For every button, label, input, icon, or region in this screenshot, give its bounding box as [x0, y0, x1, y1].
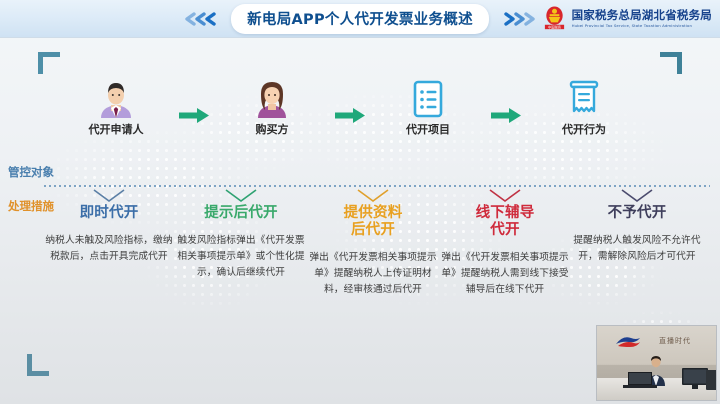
flow-node-behavior: 代开行为 — [534, 78, 634, 137]
monitor-secondary-icon — [706, 370, 717, 390]
flow-node-buyer: 购买方 — [222, 78, 322, 137]
male-avatar-icon — [96, 78, 136, 118]
measure-heading: 即时代开 — [43, 205, 175, 222]
measure-body: 触发风险指标弹出《代开发票相关事项提示单》或个性化提示，确认后继续代开 — [175, 233, 307, 280]
measure-body: 弹出《代开发票相关事项提示单》提醒纳税人需到线下接受辅导后在线下代开 — [439, 250, 571, 297]
header-title-group: 新电局APP个人代开发票业务概述 — [182, 4, 538, 34]
measure-body: 弹出《代开发票相关事项提示单》提醒纳税人上传证明材料，经审核通过后代开 — [307, 250, 439, 297]
flow-node-label: 代开项目 — [406, 121, 450, 137]
logo-org-name-en: Hubei Provincial Tax Service, State Taxa… — [572, 23, 712, 28]
flow-node-label: 代开申请人 — [89, 121, 144, 137]
presenter-video-inset[interactable]: 直播时代 — [596, 325, 717, 401]
measure-heading: 提供资料 后代开 — [307, 205, 439, 239]
slide-header: 新电局APP个人代开发票业务概述 — [0, 0, 720, 38]
flow-node-project: 代开项目 — [378, 78, 478, 137]
legend-control-object: 管控对象 — [8, 164, 54, 180]
national-emblem-icon: 中国税务 — [542, 5, 567, 32]
slide-canvas: 新电局APP个人代开发票业务概述 — [0, 0, 720, 404]
page-title-text: 新电局APP个人代开发票业务概述 — [247, 12, 473, 28]
measure-column-after-materials: 提供资料 后代开 弹出《代开发票相关事项提示单》提醒纳税人上传证明材料，经审核通… — [307, 205, 439, 297]
page-title: 新电局APP个人代开发票业务概述 — [231, 4, 489, 34]
logo-text-block: 国家税务总局湖北省税务局 Hubei Provincial Tax Servic… — [572, 9, 712, 28]
laptop-icon — [623, 372, 657, 389]
checklist-icon — [411, 78, 445, 118]
corner-bracket-top-right — [660, 52, 682, 74]
video-wall-text: 直播时代 — [659, 336, 691, 346]
invoice-receipt-icon — [568, 78, 600, 118]
measure-column-offline-guidance: 线下辅导 代开 弹出《代开发票相关事项提示单》提醒纳税人需到线下接受辅导后在线下… — [439, 205, 571, 297]
measures-columns: 即时代开 纳税人未触及风险指标，缴纳税款后，点击开具完成代开 提示后代开 触发风… — [0, 205, 720, 335]
svg-text:中国税务: 中国税务 — [548, 24, 562, 29]
measure-column-instant: 即时代开 纳税人未触及风险指标，缴纳税款后，点击开具完成代开 — [43, 205, 175, 265]
flow-node-label: 代开行为 — [562, 121, 606, 137]
flow-node-label: 购买方 — [256, 121, 289, 137]
measure-heading: 线下辅导 代开 — [439, 205, 571, 239]
measure-column-after-prompt: 提示后代开 触发风险指标弹出《代开发票相关事项提示单》或个性化提示，确认后继续代… — [175, 205, 307, 280]
measure-heading: 不予代开 — [571, 205, 703, 222]
measure-body: 纳税人未触及风险指标，缴纳税款后，点击开具完成代开 — [43, 233, 175, 264]
process-flow-row: 代开申请人 购买方 — [0, 78, 720, 140]
logo-org-name-cn: 国家税务总局湖北省税务局 — [572, 9, 712, 22]
arrow-right-icon-1 — [166, 78, 222, 123]
female-avatar-icon — [252, 78, 292, 118]
corner-bracket-bottom-left — [27, 354, 49, 376]
arrow-right-icon-3 — [478, 78, 534, 123]
arrow-right-icon-2 — [322, 78, 378, 123]
chevrons-right-icon — [496, 11, 538, 27]
flow-node-applicant: 代开申请人 — [66, 78, 166, 137]
measure-heading: 提示后代开 — [175, 205, 307, 222]
measure-column-not-allowed: 不予代开 提醒纳税人触发风险不允许代开，需解除风险后才可代开 — [571, 205, 703, 265]
measure-body: 提醒纳税人触发风险不允许代开，需解除风险后才可代开 — [571, 233, 703, 264]
corner-bracket-top-left — [38, 52, 60, 74]
broadcast-logo-icon — [615, 334, 641, 348]
chevrons-left-icon — [182, 11, 224, 27]
tax-bureau-logo: 中国税务 国家税务总局湖北省税务局 Hubei Provincial Tax S… — [542, 5, 712, 32]
dotted-divider — [44, 185, 710, 187]
